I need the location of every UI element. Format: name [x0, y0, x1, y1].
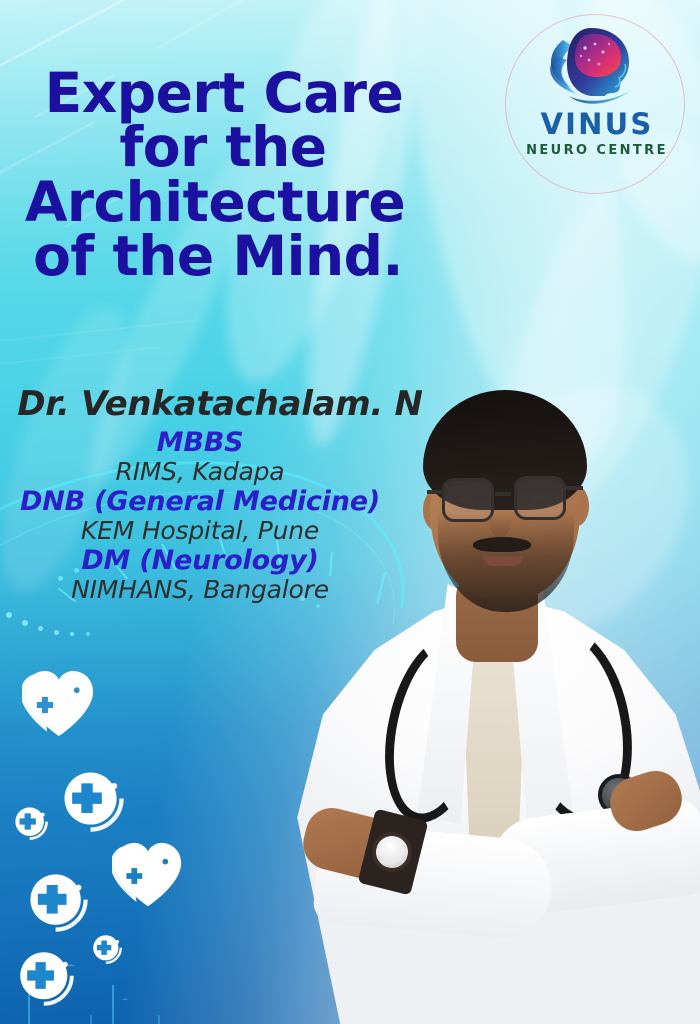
dot-trail	[86, 632, 90, 636]
headline-line-4: of the Mind.	[0, 229, 430, 283]
dot-trail	[6, 612, 12, 618]
poster-canvas: VINUS NEURO CENTRE Expert Care for the A…	[0, 0, 700, 1024]
credential-degree: DNB (General Medicine)	[0, 487, 400, 517]
credential-degree: MBBS	[0, 428, 400, 458]
page-title: Expert Care for the Architecture of the …	[0, 66, 430, 284]
medical-cross-icon	[92, 934, 122, 964]
headline-line-2: for the	[0, 120, 430, 174]
doctor-credentials: MBBS RIMS, Kadapa DNB (General Medicine)…	[0, 428, 400, 605]
credential-institution: RIMS, Kadapa	[0, 458, 400, 487]
doctor-smile	[483, 556, 523, 566]
medical-heart-icon	[22, 668, 96, 742]
medical-cross-icon	[18, 950, 74, 1006]
eyeglasses-arm-left	[427, 490, 445, 494]
medical-cross-icon	[62, 770, 124, 832]
medical-cross-icon	[14, 806, 48, 840]
brand-name: VINUS	[512, 110, 682, 139]
doctor-name: Dr. Venkatachalam. N	[0, 384, 440, 424]
eyeglasses-left-lens	[442, 478, 494, 522]
credential-degree: DM (Neurology)	[0, 546, 400, 576]
headline-line-1: Expert Care	[0, 66, 430, 120]
brand-logo[interactable]: VINUS NEURO CENTRE	[512, 20, 682, 185]
dot-trail	[38, 626, 43, 631]
doctor-nose	[489, 504, 511, 538]
medical-heart-icon	[112, 840, 184, 912]
credential-institution: NIMHANS, Bangalore	[0, 576, 400, 605]
headline-line-3: Architecture	[0, 175, 430, 229]
dot-trail	[70, 632, 74, 636]
eyeglasses-right-lens	[514, 476, 566, 520]
eyeglasses-arm-right	[565, 486, 583, 490]
dot-trail	[54, 630, 59, 635]
brand-tagline: NEURO CENTRE	[512, 144, 682, 157]
credential-institution: KEM Hospital, Pune	[0, 517, 400, 546]
medical-cross-icon	[28, 872, 88, 932]
doctor-mustache	[473, 537, 531, 552]
brain-head-profile-icon	[537, 20, 657, 108]
eyeglasses-bridge	[495, 492, 511, 496]
dot-trail	[22, 620, 28, 626]
